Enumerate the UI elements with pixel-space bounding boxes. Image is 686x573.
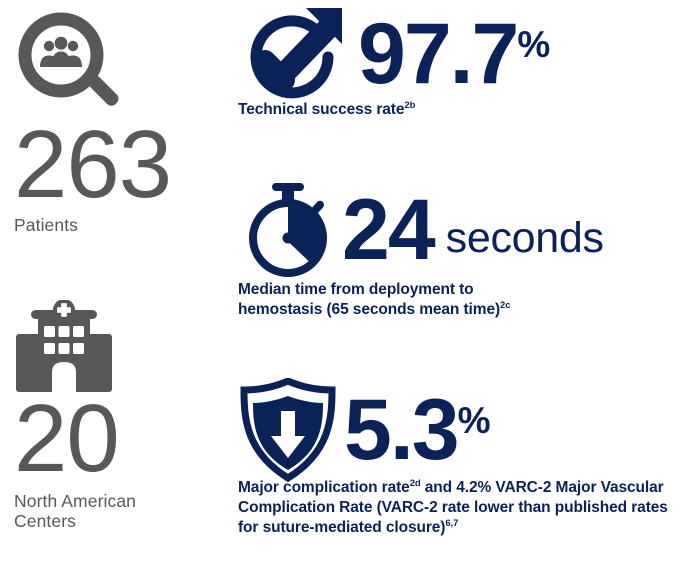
centers-label-line1: North American (14, 491, 229, 512)
complication-rate-value: 5.3 (344, 396, 458, 465)
complication-rate-unit: % (458, 402, 490, 439)
centers-label: North American Centers (14, 491, 229, 532)
stat-technical-success: 97.7 % Technical success rate2b (238, 4, 682, 120)
stat-complication-rate: 5.3 % Major complication rate2d and 4.2%… (238, 378, 682, 537)
complication-rate-caption: Major complication rate2d and 4.2% VARC-… (238, 478, 682, 537)
complication-rate-caption-part1: Major complication rate (238, 479, 410, 496)
complication-rate-number: 5.3 % (344, 396, 489, 465)
technical-success-caption-text: Technical success rate (238, 101, 404, 118)
hospital-icon (14, 300, 229, 394)
hemostasis-time-number: 24 seconds (342, 196, 604, 265)
magnifier-people-icon (14, 8, 229, 116)
infographic-root: 263 Patients (0, 0, 686, 573)
patients-value: 263 (14, 126, 229, 205)
hemostasis-time-unit: seconds (446, 217, 604, 264)
stat-hemostasis-time: 24 seconds Median time from deployment t… (238, 178, 682, 320)
technical-success-figure: 97.7 % (238, 4, 682, 104)
hemostasis-time-footnote: 2c (500, 300, 510, 311)
technical-success-value: 97.7 (358, 20, 517, 89)
technical-success-unit: % (517, 26, 549, 63)
hemostasis-time-figure: 24 seconds (238, 178, 682, 282)
hemostasis-time-caption-line1: Median time from deployment to (238, 280, 682, 300)
centers-label-line2: Centers (14, 511, 229, 532)
stat-patients: 263 Patients (14, 8, 229, 235)
hemostasis-time-value: 24 (342, 196, 434, 265)
technical-success-footnote: 2b (404, 100, 415, 111)
hemostasis-time-caption-line2-text: hemostasis (65 seconds mean time) (238, 301, 500, 318)
technical-success-caption: Technical success rate2b (238, 100, 682, 120)
check-arrow-up-icon (238, 4, 350, 104)
hemostasis-time-caption: Median time from deployment to hemostasi… (238, 280, 682, 320)
complication-rate-figure: 5.3 % (238, 378, 682, 482)
stat-centers: 20 North American Centers (14, 300, 229, 532)
centers-value: 20 (14, 400, 229, 479)
shield-arrow-down-icon (238, 378, 338, 482)
complication-rate-footnote-2: 6,7 (445, 518, 458, 529)
technical-success-number: 97.7 % (358, 20, 549, 89)
stopwatch-icon (238, 178, 342, 282)
complication-rate-footnote-1: 2d (410, 478, 421, 489)
hemostasis-time-caption-line2: hemostasis (65 seconds mean time)2c (238, 300, 682, 320)
